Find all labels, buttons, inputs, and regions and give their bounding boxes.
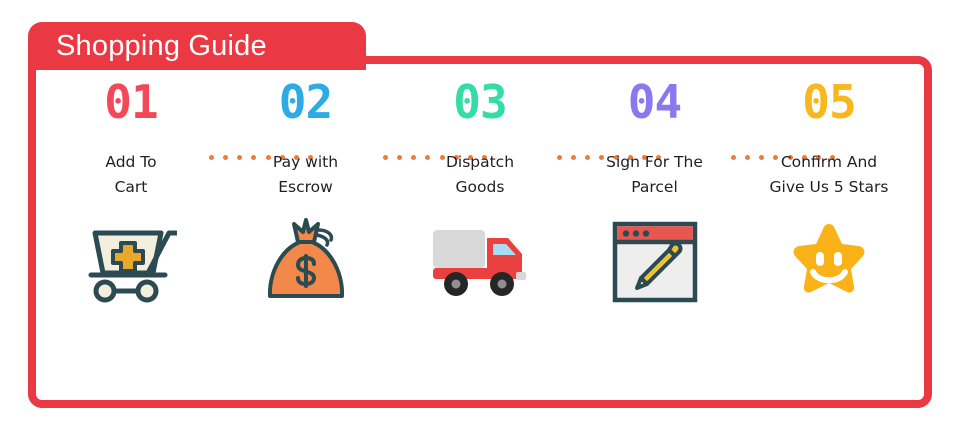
step-2-label: Pay with Escrow <box>219 150 393 200</box>
step-3-label-line1: Dispatch <box>393 150 567 175</box>
step-3-label-line2: Goods <box>393 175 567 200</box>
browser-pencil-icon <box>605 214 705 310</box>
step-2: 02 Pay with Escrow <box>219 64 393 310</box>
page-title: Shopping Guide <box>56 26 267 66</box>
step-1-number: 01 <box>104 75 157 125</box>
step-2-number: 02 <box>279 75 332 125</box>
step-3: 03 Dispatch Goods <box>393 64 567 310</box>
step-1-label-line2: Cart <box>44 175 218 200</box>
step-5-label-line1: Confirm And <box>742 150 916 175</box>
step-2-label-line2: Escrow <box>219 175 393 200</box>
step-5-number-row: 05 <box>802 64 855 136</box>
step-4: 04 Sign For The Parcel <box>568 64 742 310</box>
steps-row: 01 Add To Cart <box>44 64 916 400</box>
step-4-number: 04 <box>628 75 681 125</box>
step-4-label: Sign For The Parcel <box>568 150 742 200</box>
step-5: 05 Confirm And Give Us 5 Stars <box>742 64 916 310</box>
step-1-number-row: 01 <box>104 64 157 136</box>
step-5-label: Confirm And Give Us 5 Stars <box>742 150 916 200</box>
shopping-cart-icon <box>81 214 181 310</box>
step-4-label-line2: Parcel <box>568 175 742 200</box>
step-2-number-row: 02 <box>279 64 332 136</box>
delivery-truck-icon <box>430 214 530 310</box>
step-1-label: Add To Cart <box>44 150 218 200</box>
step-5-label-line2: Give Us 5 Stars <box>742 175 916 200</box>
step-1: 01 Add To Cart <box>44 64 218 310</box>
step-4-number-row: 04 <box>628 64 681 136</box>
step-3-number: 03 <box>453 75 506 125</box>
step-3-number-row: 03 <box>453 64 506 136</box>
step-5-number: 05 <box>802 75 855 125</box>
money-bag-icon <box>256 214 356 310</box>
smiling-star-icon <box>779 214 879 310</box>
step-4-label-line1: Sign For The <box>568 150 742 175</box>
step-1-label-line1: Add To <box>44 150 218 175</box>
shopping-guide-infographic: Shopping Guide 01 Add To Cart <box>0 0 960 432</box>
step-3-label: Dispatch Goods <box>393 150 567 200</box>
step-2-label-line1: Pay with <box>219 150 393 175</box>
